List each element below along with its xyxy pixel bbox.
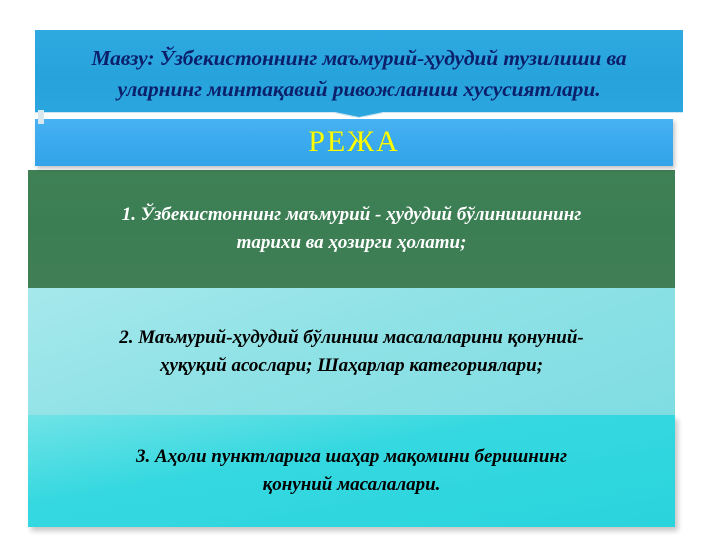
- slide-title-box: Мавзу: Ўзбекистоннинг маъмурий-ҳудудий т…: [35, 30, 683, 117]
- plan-item-3-line-1: 3. Аҳоли пунктларига шаҳар мақомини бери…: [136, 446, 567, 467]
- plan-item-3-line-2: қонуний масалалари.: [263, 474, 441, 495]
- plan-banner: РЕЖА: [35, 118, 673, 166]
- plan-item-1-text: 1. Ўзбекистоннинг маъмурий - ҳудудий бўл…: [57, 201, 647, 256]
- plan-item-2: 2. Маъмурий-ҳудудий бўлиниш масалаларини…: [28, 288, 675, 415]
- presentation-slide: Мавзу: Ўзбекистоннинг маъмурий-ҳудудий т…: [0, 0, 720, 540]
- plan-item-2-line-1: 2. Маъмурий-ҳудудий бўлиниш масалаларини…: [119, 327, 583, 348]
- plan-item-2-text: 2. Маъмурий-ҳудудий бўлиниш масалаларини…: [57, 324, 647, 379]
- slide-title-text: Мавзу: Ўзбекистоннинг маъмурий-ҳудудий т…: [39, 43, 679, 104]
- ribbon-tab-icon: [38, 110, 44, 124]
- plan-item-1-line-2: тарихи ва ҳозирги ҳолати;: [237, 232, 467, 253]
- plan-item-1: 1. Ўзбекистоннинг маъмурий - ҳудудий бўл…: [28, 170, 675, 288]
- plan-banner-label: РЕЖА: [308, 127, 400, 157]
- slide-title-line-2: уларнинг минтақавий ривожланиш хусусиятл…: [118, 77, 601, 101]
- slide-title-line-1: Мавзу: Ўзбекистоннинг маъмурий-ҳудудий т…: [91, 46, 626, 70]
- plan-item-3: 3. Аҳоли пунктларига шаҳар мақомини бери…: [28, 415, 675, 527]
- plan-item-2-line-2: ҳуқуқий асослари; Шаҳарлар категориялари…: [160, 355, 543, 376]
- plan-item-3-text: 3. Аҳоли пунктларига шаҳар мақомини бери…: [57, 443, 647, 498]
- plan-item-1-line-1: 1. Ўзбекистоннинг маъмурий - ҳудудий бўл…: [122, 204, 582, 225]
